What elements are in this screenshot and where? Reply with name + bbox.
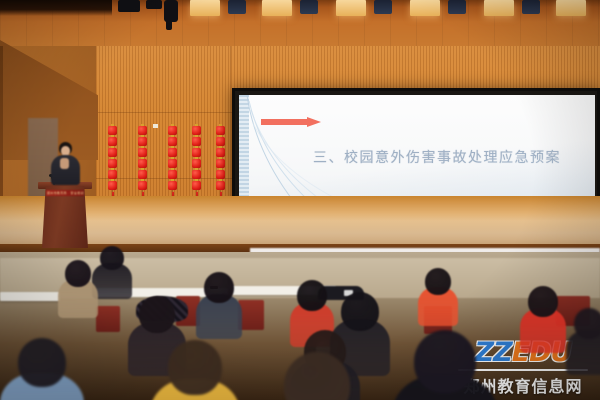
ceiling-warm-light-5 (484, 0, 514, 16)
ceiling-dark-fixture-2 (300, 0, 318, 14)
lantern-column-4 (192, 126, 201, 204)
lantern (138, 137, 147, 146)
lantern (168, 159, 177, 168)
person-head (297, 280, 327, 311)
ceiling-dark-band (0, 0, 112, 16)
slide-arrow-icon (261, 117, 321, 127)
lantern (168, 170, 177, 179)
ceiling-warm-light-6 (556, 0, 586, 16)
person-head (100, 246, 124, 270)
lantern (108, 137, 117, 146)
chair-d (96, 306, 120, 332)
lantern (138, 126, 147, 135)
lantern (138, 170, 147, 179)
lantern (192, 148, 201, 157)
lantern (138, 181, 147, 190)
lantern (216, 148, 225, 157)
ceiling-dark-fixture-5 (522, 0, 540, 14)
person-head (341, 292, 379, 331)
lantern (216, 159, 225, 168)
podium-banner-text: 郑州市教育局 · 安全培训 (47, 191, 84, 195)
lantern (138, 159, 147, 168)
lantern (108, 181, 117, 190)
ceiling-warm-light-2 (262, 0, 292, 16)
photo-scene: 三、校园意外伤害事故处理应急预案 郑州市教育局 · 安全培训 (0, 0, 600, 400)
wall-switch-plate (153, 124, 158, 128)
person-head (139, 296, 175, 333)
ceiling-dark-fixture-1 (228, 0, 246, 14)
lantern (108, 126, 117, 135)
lantern (168, 148, 177, 157)
person-head (18, 338, 66, 387)
speaker-figure (50, 142, 80, 188)
lantern (216, 137, 225, 146)
lantern (168, 126, 177, 135)
lantern (192, 181, 201, 190)
ceiling-dark-fixture-4 (448, 0, 466, 14)
ceiling-rig-a (118, 0, 140, 12)
ceiling-warm-light-3 (336, 0, 366, 16)
lantern (168, 181, 177, 190)
ceiling-warm-light-4 (410, 0, 440, 16)
lantern-column-2 (138, 126, 147, 204)
ceiling-rig-b (146, 0, 162, 9)
ceiling-projector (164, 0, 178, 22)
ceiling-dark-fixture-3 (374, 0, 392, 14)
lantern (192, 126, 201, 135)
lantern (108, 159, 117, 168)
person-head (574, 308, 600, 339)
podium-banner: 郑州市教育局 · 安全培训 (46, 190, 84, 196)
lantern-column-5 (216, 126, 225, 204)
person-head (168, 340, 222, 395)
lantern (216, 126, 225, 135)
lantern (138, 148, 147, 157)
lantern (108, 170, 117, 179)
lantern (192, 159, 201, 168)
speaker-neckline (60, 158, 69, 169)
ceiling-warm-light-1 (190, 0, 220, 16)
lantern (216, 181, 225, 190)
lantern (192, 170, 201, 179)
slide-title: 三、校园意外伤害事故处理应急预案 (313, 147, 583, 167)
lantern (108, 148, 117, 157)
person-head (414, 330, 476, 393)
lantern (168, 137, 177, 146)
ceiling-projector-mount (166, 20, 172, 30)
lantern (192, 137, 201, 146)
person-head (204, 272, 234, 303)
person-head (65, 260, 91, 287)
audience-table-far-left (0, 292, 60, 301)
person-head (425, 268, 451, 295)
person-head (528, 286, 558, 317)
lantern-column-3 (168, 126, 177, 204)
lantern-column-1 (108, 126, 117, 204)
lantern (216, 170, 225, 179)
